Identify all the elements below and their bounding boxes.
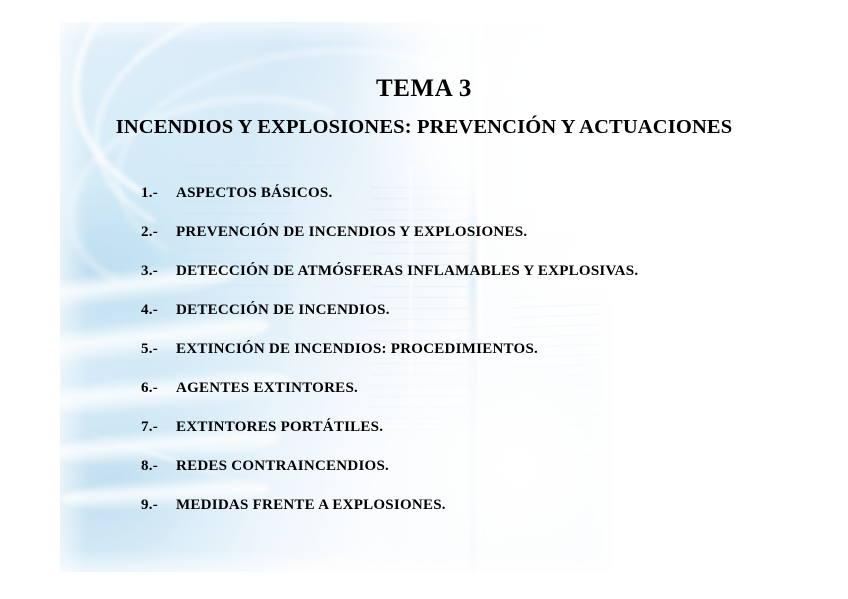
list-item-number: 7.-	[141, 419, 176, 436]
list-item-number: 1.-	[141, 185, 176, 202]
slide-text-layer: TEMA 3 INCENDIOS Y EXPLOSIONES: PREVENCI…	[0, 0, 848, 599]
list-item-label: EXTINCIÓN DE INCENDIOS: PROCEDIMIENTOS.	[176, 341, 538, 358]
list-item-number: 5.-	[141, 341, 176, 358]
list-item-label: MEDIDAS FRENTE A EXPLOSIONES.	[176, 497, 446, 514]
slide-subtitle: INCENDIOS Y EXPLOSIONES: PREVENCIÓN Y AC…	[0, 116, 848, 139]
list-item-number: 9.-	[141, 497, 176, 514]
list-item: 2.- PREVENCIÓN DE INCENDIOS Y EXPLOSIONE…	[141, 224, 801, 263]
list-item-label: REDES CONTRAINCENDIOS.	[176, 458, 389, 475]
list-item: 7.- EXTINTORES PORTÁTILES.	[141, 419, 801, 458]
list-item-label: ASPECTOS BÁSICOS.	[176, 185, 333, 202]
list-item-label: EXTINTORES PORTÁTILES.	[176, 419, 383, 436]
list-item: 1.- ASPECTOS BÁSICOS.	[141, 185, 801, 224]
list-item-number: 3.-	[141, 263, 176, 280]
list-item: 3.- DETECCIÓN DE ATMÓSFERAS INFLAMABLES …	[141, 263, 801, 302]
list-item: 9.- MEDIDAS FRENTE A EXPLOSIONES.	[141, 497, 801, 536]
list-item: 4.- DETECCIÓN DE INCENDIOS.	[141, 302, 801, 341]
list-item-label: PREVENCIÓN DE INCENDIOS Y EXPLOSIONES.	[176, 224, 527, 241]
slide-title: TEMA 3	[0, 75, 848, 103]
list-item: 8.- REDES CONTRAINCENDIOS.	[141, 458, 801, 497]
list-item-number: 2.-	[141, 224, 176, 241]
list-item-label: DETECCIÓN DE ATMÓSFERAS INFLAMABLES Y EX…	[176, 263, 638, 280]
list-item-label: DETECCIÓN DE INCENDIOS.	[176, 302, 390, 319]
list-item-number: 4.-	[141, 302, 176, 319]
list-item: 5.- EXTINCIÓN DE INCENDIOS: PROCEDIMIENT…	[141, 341, 801, 380]
list-item-label: AGENTES EXTINTORES.	[176, 380, 358, 397]
presentation-slide: TEMA 3 INCENDIOS Y EXPLOSIONES: PREVENCI…	[0, 0, 848, 599]
list-item-number: 6.-	[141, 380, 176, 397]
table-of-contents-list: 1.- ASPECTOS BÁSICOS. 2.- PREVENCIÓN DE …	[141, 185, 801, 536]
list-item-number: 8.-	[141, 458, 176, 475]
list-item: 6.- AGENTES EXTINTORES.	[141, 380, 801, 419]
